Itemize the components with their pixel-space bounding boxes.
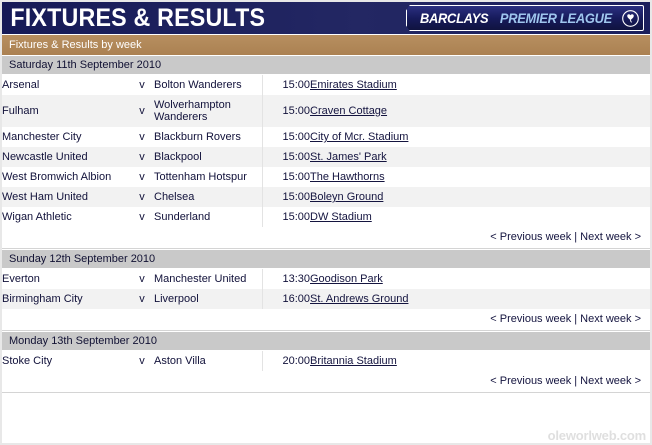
day-header-label: Saturday 11th September 2010 bbox=[2, 56, 161, 74]
versus-separator: v bbox=[130, 207, 154, 227]
away-team: Liverpool bbox=[154, 289, 262, 309]
kickoff-time: 15:00 bbox=[262, 167, 310, 187]
venue-link[interactable]: DW Stadium bbox=[310, 211, 372, 223]
title-bar: FIXTURES & RESULTS BARCLAYS PREMIER LEAG… bbox=[2, 2, 650, 34]
watermark: oleworlweb.com bbox=[548, 428, 646, 443]
week-navigation: < Previous week|Next week > bbox=[2, 227, 650, 249]
logo-league-text: PREMIER LEAGUE bbox=[500, 10, 612, 26]
kickoff-time: 15:00 bbox=[262, 187, 310, 207]
sub-header-bar: Fixtures & Results by week bbox=[2, 34, 650, 55]
table-row: EvertonvManchester United13:30Goodison P… bbox=[2, 269, 650, 289]
versus-separator: v bbox=[130, 75, 154, 95]
table-row: ArsenalvBolton Wanderers15:00Emirates St… bbox=[2, 75, 650, 95]
nav-separator: | bbox=[571, 375, 580, 387]
page-title: FIXTURES & RESULTS bbox=[2, 3, 265, 33]
venue-link[interactable]: St. James' Park bbox=[310, 151, 387, 163]
away-team: Tottenham Hotspur bbox=[154, 167, 262, 187]
fixtures-results-page: FIXTURES & RESULTS BARCLAYS PREMIER LEAG… bbox=[0, 0, 652, 445]
table-row: West Bromwich AlbionvTottenham Hotspur15… bbox=[2, 167, 650, 187]
sub-header-label: Fixtures & Results by week bbox=[2, 36, 142, 54]
kickoff-time: 15:00 bbox=[262, 127, 310, 147]
week-navigation: < Previous week|Next week > bbox=[2, 371, 650, 393]
versus-separator: v bbox=[130, 187, 154, 207]
venue-link[interactable]: Britannia Stadium bbox=[310, 355, 397, 367]
logo-brand-text: BARCLAYS bbox=[420, 10, 488, 26]
table-row: FulhamvWolverhampton Wanderers15:00Crave… bbox=[2, 95, 650, 127]
venue-link[interactable]: Goodison Park bbox=[310, 273, 383, 285]
venue-cell: St. James' Park bbox=[310, 147, 650, 167]
next-week-link[interactable]: Next week > bbox=[580, 313, 641, 325]
kickoff-time: 16:00 bbox=[262, 289, 310, 309]
venue-cell: Craven Cottage bbox=[310, 95, 650, 127]
kickoff-time: 15:00 bbox=[262, 75, 310, 95]
away-team: Sunderland bbox=[154, 207, 262, 227]
lion-icon bbox=[621, 9, 639, 27]
fixtures-list: Saturday 11th September 2010ArsenalvBolt… bbox=[2, 55, 650, 393]
kickoff-time: 15:00 bbox=[262, 207, 310, 227]
day-header-label: Monday 13th September 2010 bbox=[2, 332, 157, 350]
away-team: Chelsea bbox=[154, 187, 262, 207]
away-team: Bolton Wanderers bbox=[154, 75, 262, 95]
away-team: Wolverhampton Wanderers bbox=[154, 95, 262, 127]
table-row: West Ham UnitedvChelsea15:00Boleyn Groun… bbox=[2, 187, 650, 207]
kickoff-time: 15:00 bbox=[262, 95, 310, 127]
away-team: Manchester United bbox=[154, 269, 262, 289]
home-team: Arsenal bbox=[2, 75, 130, 95]
week-navigation: < Previous week|Next week > bbox=[2, 309, 650, 331]
home-team: Birmingham City bbox=[2, 289, 130, 309]
next-week-link[interactable]: Next week > bbox=[580, 375, 641, 387]
fixtures-table: EvertonvManchester United13:30Goodison P… bbox=[2, 269, 650, 331]
venue-link[interactable]: Craven Cottage bbox=[310, 105, 387, 117]
versus-separator: v bbox=[130, 127, 154, 147]
previous-week-link[interactable]: < Previous week bbox=[490, 231, 571, 243]
fixtures-table: ArsenalvBolton Wanderers15:00Emirates St… bbox=[2, 75, 650, 249]
day-header-label: Sunday 12th September 2010 bbox=[2, 250, 155, 268]
day-header: Monday 13th September 2010 bbox=[2, 331, 650, 351]
week-navigation-row: < Previous week|Next week > bbox=[2, 371, 650, 393]
home-team: Everton bbox=[2, 269, 130, 289]
venue-cell: DW Stadium bbox=[310, 207, 650, 227]
home-team: Stoke City bbox=[2, 351, 130, 371]
venue-cell: Goodison Park bbox=[310, 269, 650, 289]
versus-separator: v bbox=[130, 147, 154, 167]
away-team: Blackpool bbox=[154, 147, 262, 167]
fixtures-table: Stoke CityvAston Villa20:00Britannia Sta… bbox=[2, 351, 650, 393]
week-navigation-row: < Previous week|Next week > bbox=[2, 309, 650, 331]
versus-separator: v bbox=[130, 167, 154, 187]
nav-separator: | bbox=[571, 231, 580, 243]
home-team: Wigan Athletic bbox=[2, 207, 130, 227]
versus-separator: v bbox=[130, 95, 154, 127]
venue-cell: Britannia Stadium bbox=[310, 351, 650, 371]
kickoff-time: 13:30 bbox=[262, 269, 310, 289]
kickoff-time: 20:00 bbox=[262, 351, 310, 371]
venue-link[interactable]: Boleyn Ground bbox=[310, 191, 383, 203]
previous-week-link[interactable]: < Previous week bbox=[490, 375, 571, 387]
home-team: Fulham bbox=[2, 95, 130, 127]
versus-separator: v bbox=[130, 269, 154, 289]
home-team: West Bromwich Albion bbox=[2, 167, 130, 187]
home-team: Newcastle United bbox=[2, 147, 130, 167]
versus-separator: v bbox=[130, 289, 154, 309]
home-team: Manchester City bbox=[2, 127, 130, 147]
venue-cell: The Hawthorns bbox=[310, 167, 650, 187]
nav-separator: | bbox=[571, 313, 580, 325]
away-team: Blackburn Rovers bbox=[154, 127, 262, 147]
week-navigation-row: < Previous week|Next week > bbox=[2, 227, 650, 249]
venue-cell: Boleyn Ground bbox=[310, 187, 650, 207]
venue-link[interactable]: The Hawthorns bbox=[310, 171, 385, 183]
table-row: Wigan AthleticvSunderland15:00DW Stadium bbox=[2, 207, 650, 227]
away-team: Aston Villa bbox=[154, 351, 262, 371]
venue-cell: St. Andrews Ground bbox=[310, 289, 650, 309]
versus-separator: v bbox=[130, 351, 154, 371]
venue-cell: City of Mcr. Stadium bbox=[310, 127, 650, 147]
venue-link[interactable]: City of Mcr. Stadium bbox=[310, 131, 408, 143]
table-row: Manchester CityvBlackburn Rovers15:00Cit… bbox=[2, 127, 650, 147]
table-row: Newcastle UnitedvBlackpool15:00St. James… bbox=[2, 147, 650, 167]
kickoff-time: 15:00 bbox=[262, 147, 310, 167]
venue-cell: Emirates Stadium bbox=[310, 75, 650, 95]
day-header: Saturday 11th September 2010 bbox=[2, 55, 650, 75]
table-row: Stoke CityvAston Villa20:00Britannia Sta… bbox=[2, 351, 650, 371]
barclays-premier-league-logo: BARCLAYS PREMIER LEAGUE bbox=[406, 5, 644, 31]
day-header: Sunday 12th September 2010 bbox=[2, 249, 650, 269]
previous-week-link[interactable]: < Previous week bbox=[490, 313, 571, 325]
venue-link[interactable]: Emirates Stadium bbox=[310, 79, 397, 91]
home-team: West Ham United bbox=[2, 187, 130, 207]
table-row: Birmingham CityvLiverpool16:00St. Andrew… bbox=[2, 289, 650, 309]
venue-link[interactable]: St. Andrews Ground bbox=[310, 293, 408, 305]
next-week-link[interactable]: Next week > bbox=[580, 231, 641, 243]
